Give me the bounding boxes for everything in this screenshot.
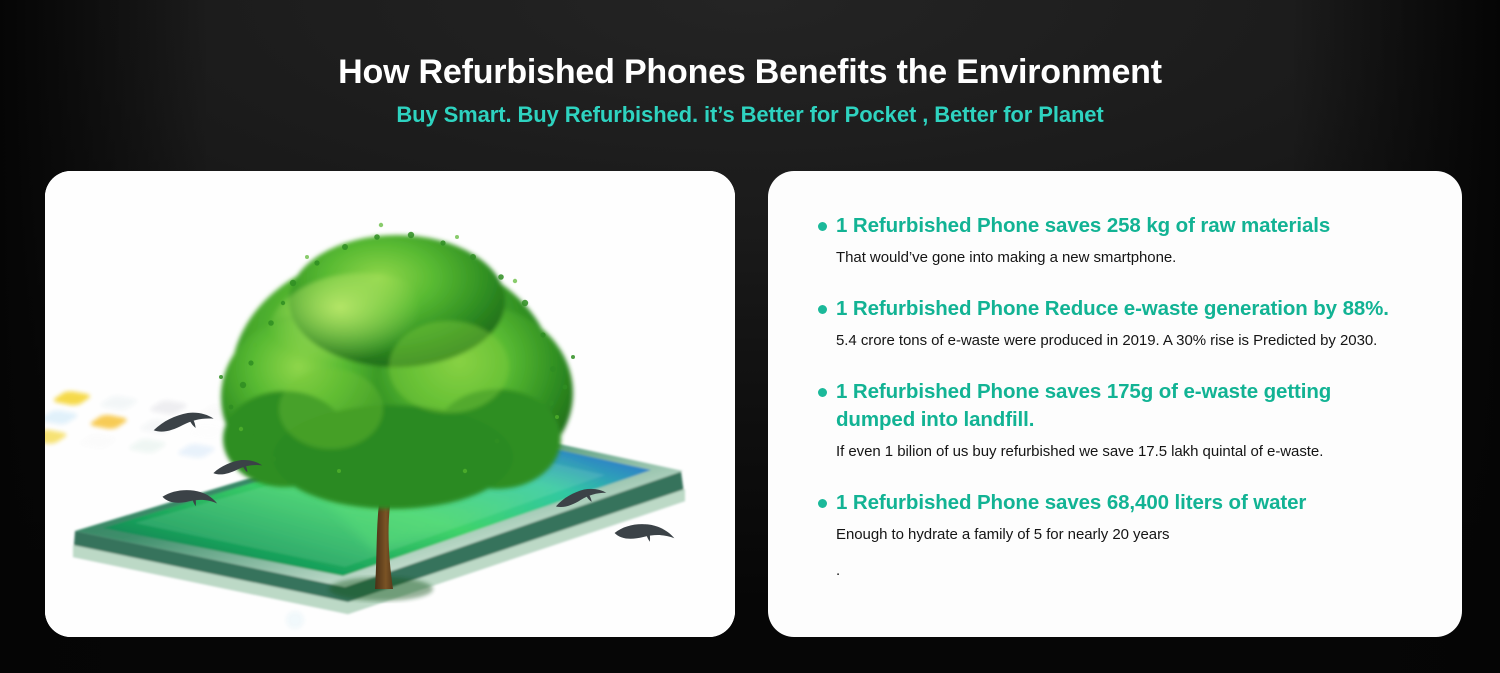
- list-item: 1 Refurbished Phone saves 258 kg of raw …: [796, 212, 1438, 270]
- page-title: How Refurbished Phones Benefits the Envi…: [0, 54, 1500, 91]
- bullet-icon: [818, 305, 827, 314]
- benefit-description: Enough to hydrate a family of 5 for near…: [836, 524, 1438, 547]
- benefit-description: That would’ve gone into making a new sma…: [836, 247, 1438, 270]
- list-item: 1 Refurbished Phone saves 175g of e-wast…: [796, 378, 1438, 464]
- benefits-card: 1 Refurbished Phone saves 258 kg of raw …: [768, 171, 1462, 637]
- tree-phone-illustration: [45, 171, 735, 637]
- benefit-description: If even 1 bilion of us buy refurbished w…: [836, 441, 1438, 464]
- benefit-trailing-text: .: [836, 560, 1438, 583]
- benefit-title: 1 Refurbished Phone saves 68,400 liters …: [836, 489, 1438, 517]
- page-header: How Refurbished Phones Benefits the Envi…: [0, 0, 1500, 128]
- image-card: [45, 171, 735, 637]
- benefit-title: 1 Refurbished Phone saves 175g of e-wast…: [836, 378, 1378, 435]
- benefits-list: 1 Refurbished Phone saves 258 kg of raw …: [768, 171, 1462, 583]
- bullet-icon: [818, 222, 827, 231]
- list-item: 1 Refurbished Phone Reduce e-waste gener…: [796, 295, 1438, 353]
- benefit-title: 1 Refurbished Phone Reduce e-waste gener…: [836, 295, 1438, 323]
- benefit-title: 1 Refurbished Phone saves 258 kg of raw …: [836, 212, 1438, 240]
- list-item: 1 Refurbished Phone saves 68,400 liters …: [796, 489, 1438, 583]
- infographic-page: How Refurbished Phones Benefits the Envi…: [0, 0, 1500, 673]
- bullet-icon: [818, 499, 827, 508]
- benefit-description: 5.4 crore tons of e-waste were produced …: [836, 330, 1438, 353]
- page-subtitle: Buy Smart. Buy Refurbished. it’s Better …: [0, 102, 1500, 128]
- bullet-icon: [818, 388, 827, 397]
